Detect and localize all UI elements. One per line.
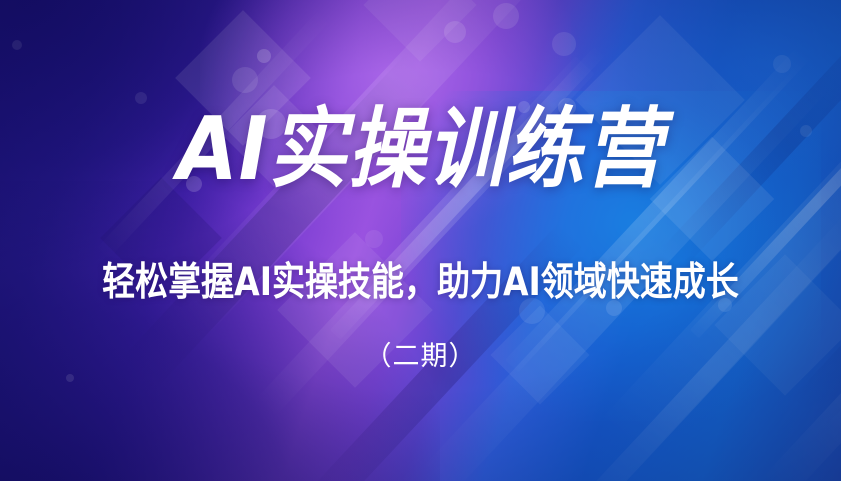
course-promo-banner: AI实操训练营 轻松掌握AI实操技能，助力AI领域快速成长 （二期）: [0, 0, 841, 481]
banner-phase-label: （二期）: [0, 343, 841, 370]
banner-content: AI实操训练营 轻松掌握AI实操技能，助力AI领域快速成长 （二期）: [0, 0, 841, 481]
banner-title: AI实操训练营: [0, 106, 841, 193]
banner-subtitle: 轻松掌握AI实操技能，助力AI领域快速成长: [0, 262, 841, 301]
